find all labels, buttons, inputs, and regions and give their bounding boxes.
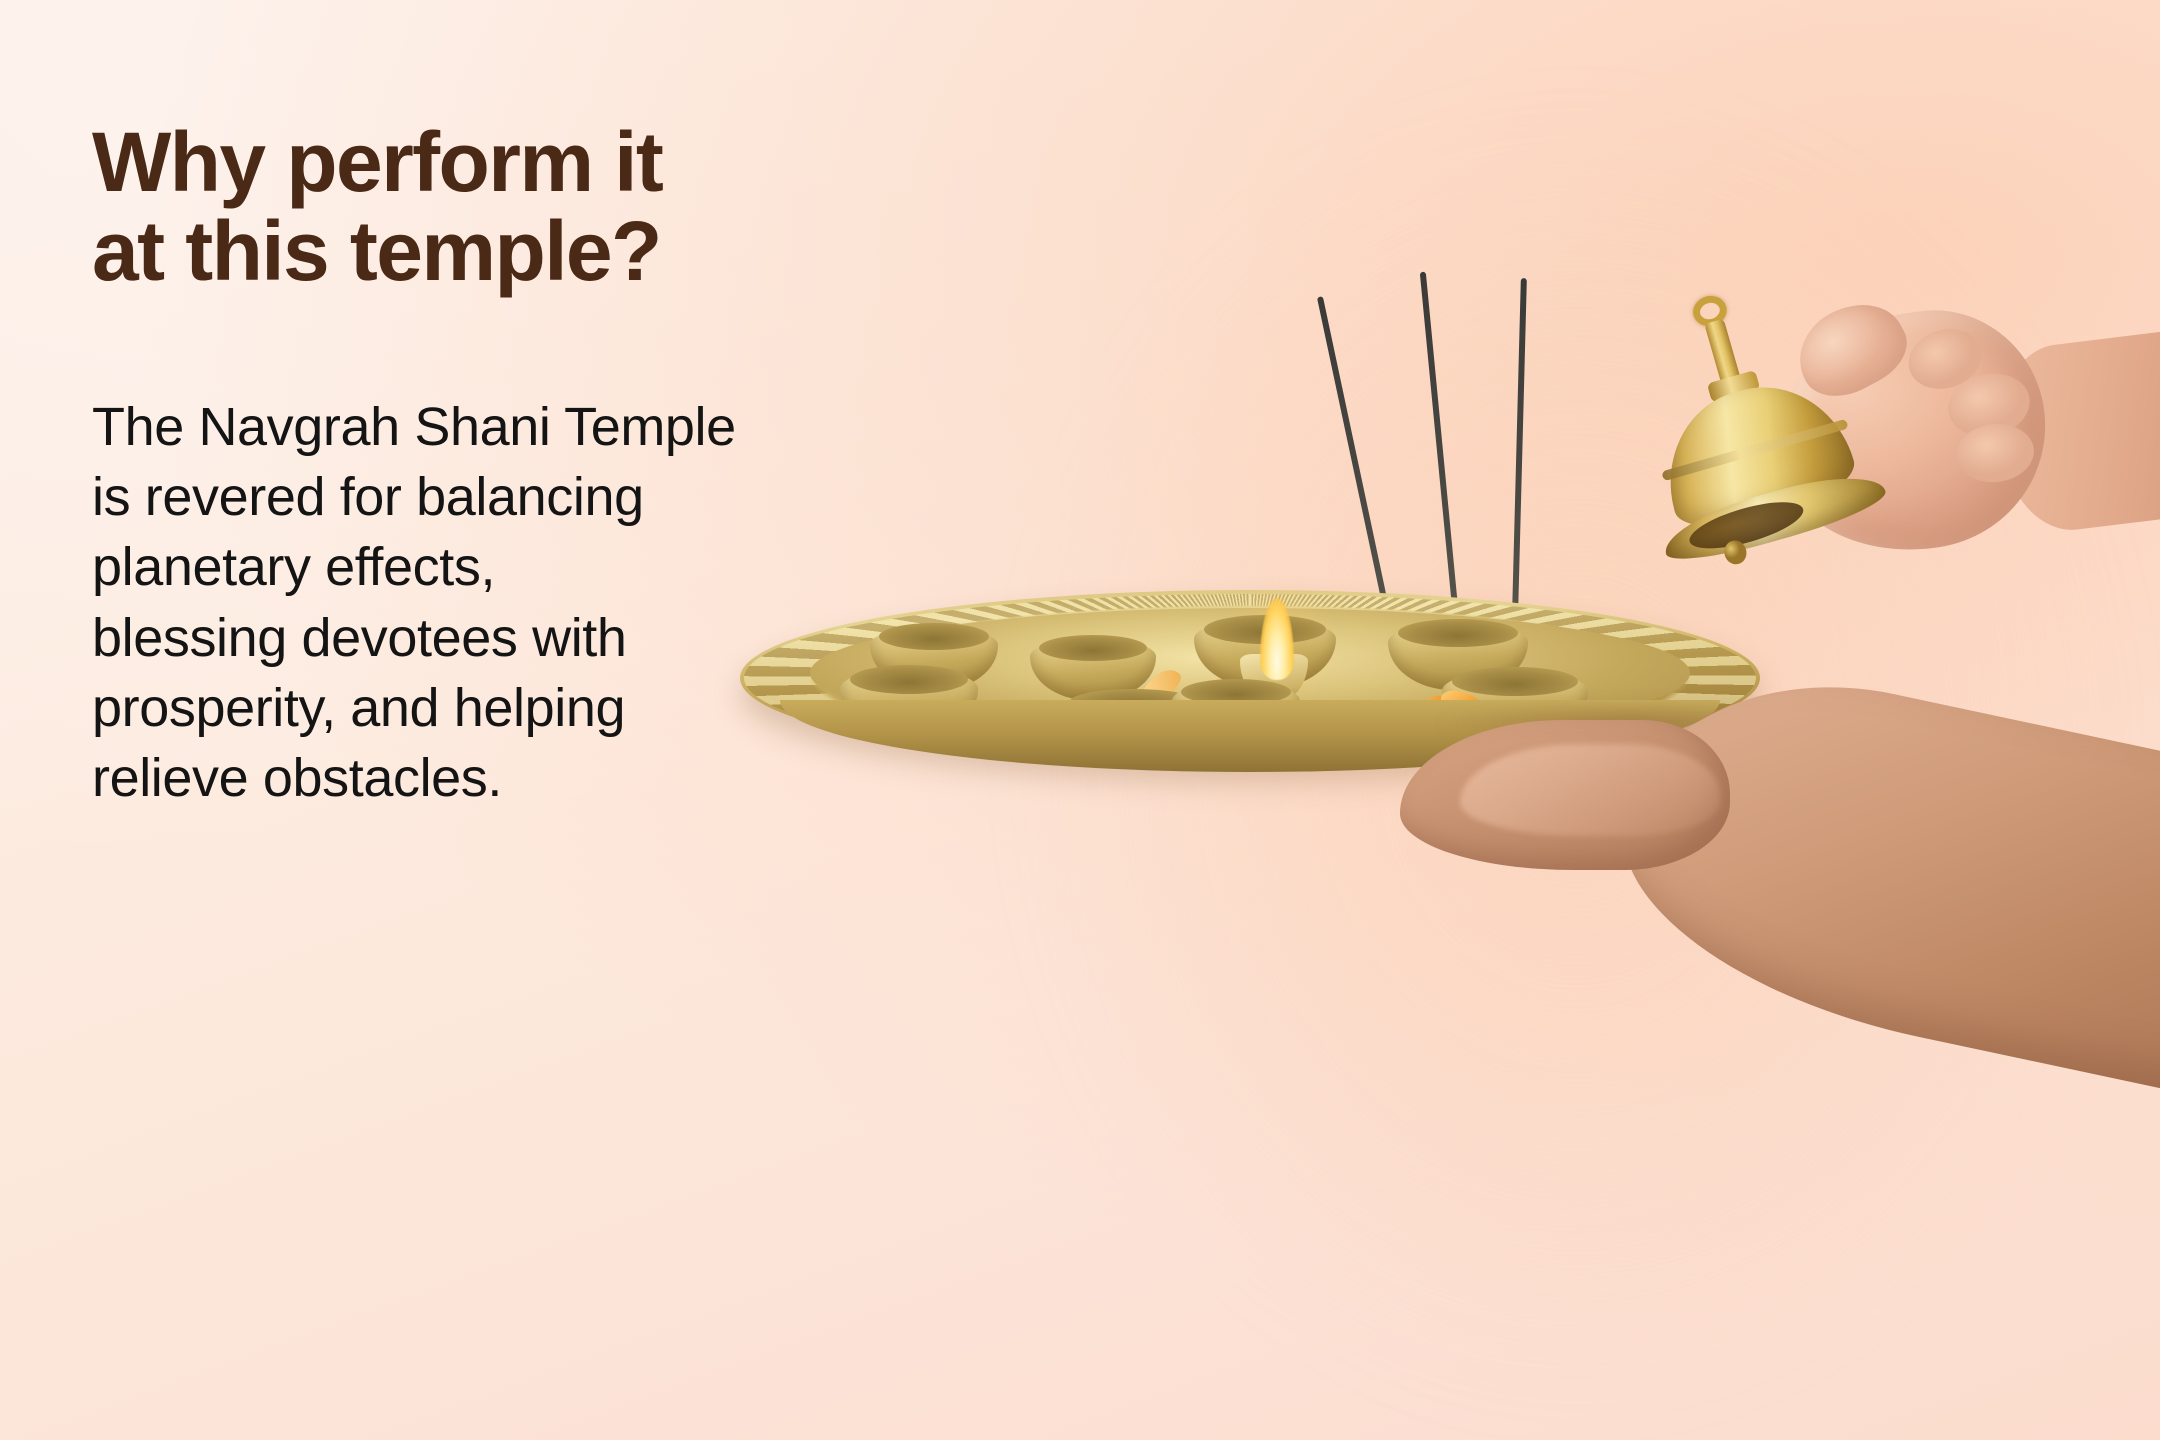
body-line-2: is revered for balancing [92,462,792,532]
body-line-3: planetary effects, [92,532,792,602]
body-paragraph: The Navgrah Shani Temple is revered for … [92,392,792,813]
body-line-5: prosperity, and helping [92,673,792,743]
headline-line-2: at this temple? [92,207,992,296]
body-line-1: The Navgrah Shani Temple [92,392,792,462]
headline-line-1: Why perform it [92,118,992,207]
puja-thali-photo [1040,250,2160,1440]
body-line-4: blessing devotees with [92,603,792,673]
support-thumb-ridge [1460,744,1720,836]
supporting-hand [1340,720,2160,1240]
page-title: Why perform it at this temple? [92,118,992,296]
slide-canvas: Why perform it at this temple? The Navgr… [0,0,2160,1440]
body-line-6: relieve obstacles. [92,743,792,813]
